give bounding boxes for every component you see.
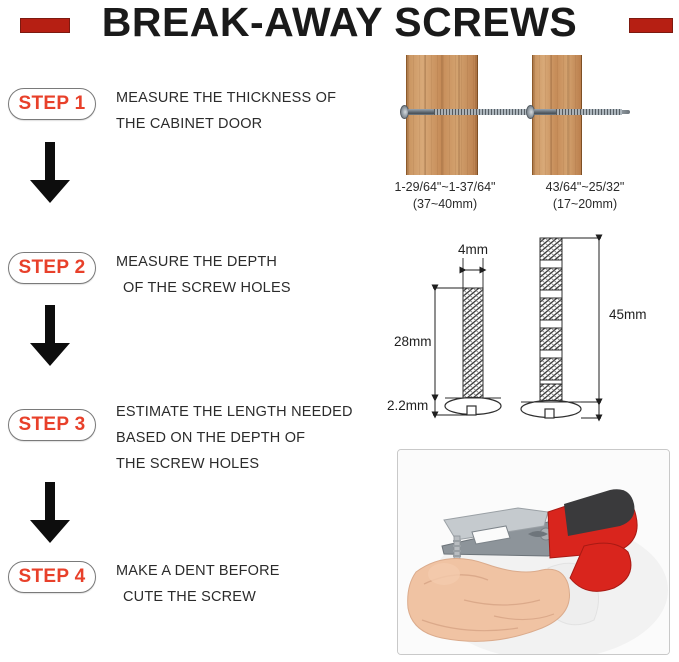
step-badge-label-3: STEP 3 [9, 410, 95, 440]
screw-thread-2 [556, 109, 622, 115]
screw-tip-2 [622, 110, 630, 114]
accent-bar-right-icon [629, 18, 673, 33]
page-header: BREAK-AWAY SCREWS [0, 0, 679, 48]
step-text-4-line-2: CUTE THE SCREW [116, 584, 280, 610]
step-text-1: MEASURE THE THICKNESS OF THE CABINET DOO… [116, 85, 336, 137]
step-text-2-line-1: MEASURE THE DEPTH [116, 249, 291, 275]
cabinet-door-thickness-illustration: 1-29/64"~1-37/64" (37~40mm) 43/64"~25/32… [370, 55, 679, 220]
board-caption-thin-imperial: 43/64"~25/32" [520, 179, 650, 196]
screw-shank-2 [534, 109, 556, 115]
steps-column: STEP 1 MEASURE THE THICKNESS OF THE CABI… [0, 56, 380, 656]
page-title: BREAK-AWAY SCREWS [0, 0, 679, 46]
step-text-3-line-2: BASED ON THE DEPTH OF [116, 425, 353, 451]
down-arrow-icon-2 [26, 303, 74, 369]
step-text-3-line-1: ESTIMATE THE LENGTH NEEDED [116, 399, 353, 425]
board-caption-thin-metric: (17~20mm) [520, 196, 650, 213]
board-caption-thick-metric: (37~40mm) [370, 196, 520, 213]
step-badge-3: STEP 3 [8, 409, 96, 441]
step-badge-label-1: STEP 1 [9, 89, 95, 119]
dim-label-length-28mm: 28mm [394, 334, 432, 349]
step-text-2-line-2: OF THE SCREW HOLES [116, 275, 291, 301]
step-text-4: MAKE A DENT BEFORE CUTE THE SCREW [116, 558, 280, 610]
step-text-1-line-1: MEASURE THE THICKNESS OF [116, 85, 336, 111]
step-text-2: MEASURE THE DEPTH OF THE SCREW HOLES [116, 249, 291, 301]
down-arrow-icon-3 [26, 480, 74, 546]
dim-label-length-45mm: 45mm [609, 307, 647, 322]
screw-through-thin-board [526, 105, 636, 119]
board-caption-thick-imperial: 1-29/64"~1-37/64" [370, 179, 520, 196]
step-badge-label-2: STEP 2 [9, 253, 95, 283]
step-text-3-line-3: THE SCREW HOLES [116, 451, 353, 477]
step-badge-label-4: STEP 4 [9, 562, 95, 592]
step-badge-1: STEP 1 [8, 88, 96, 120]
screw-thread-1 [434, 109, 540, 115]
screw-dimension-drawing: 4mm 28mm 2.2mm 45mm [395, 228, 679, 433]
board-caption-thin: 43/64"~25/32" (17~20mm) [520, 179, 650, 213]
screw-shank-1 [408, 109, 434, 115]
step-text-1-line-2: THE CABINET DOOR [116, 111, 336, 137]
down-arrow-icon-1 [26, 140, 74, 206]
infographic-page: BREAK-AWAY SCREWS STEP 1 MEASURE THE THI… [0, 0, 679, 662]
dim-label-diameter-4mm: 4mm [458, 242, 488, 257]
step-badge-4: STEP 4 [8, 561, 96, 593]
dim-label-head-2-2mm: 2.2mm [387, 398, 428, 413]
step-text-3: ESTIMATE THE LENGTH NEEDED BASED ON THE … [116, 399, 353, 477]
board-caption-thick: 1-29/64"~1-37/64" (37~40mm) [370, 179, 520, 213]
screw-drawing-svg [395, 228, 679, 433]
step-badge-2: STEP 2 [8, 252, 96, 284]
step-text-4-line-1: MAKE A DENT BEFORE [116, 558, 280, 584]
pliers-cutting-screw-photo [397, 449, 670, 655]
photo-svg [398, 450, 669, 654]
